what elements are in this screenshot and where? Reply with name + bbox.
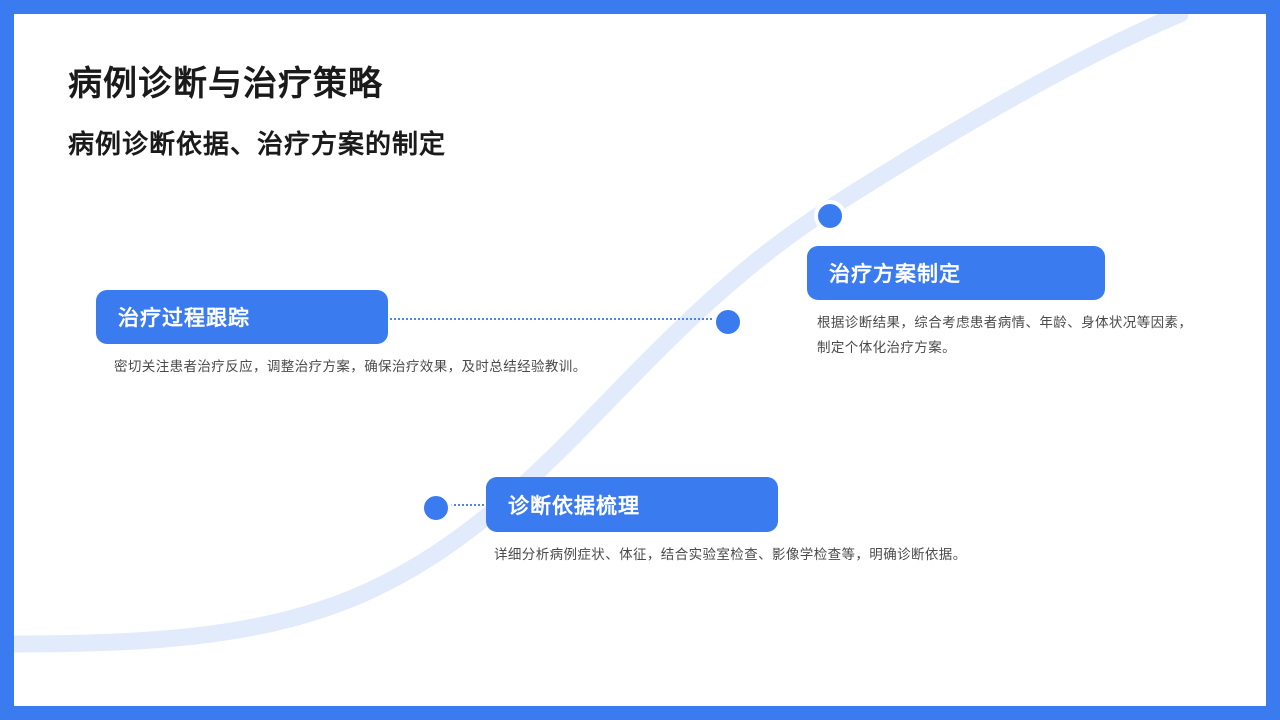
page-title: 病例诊断与治疗策略 — [68, 56, 383, 105]
node-treatment-plan-card[interactable]: 治疗方案制定 — [807, 246, 1105, 300]
node-treatment-plan[interactable]: 治疗方案制定 根据诊断结果，综合考虑患者病情、年龄、身体状况等因素，制定个体化治… — [807, 246, 1199, 361]
node-treatment-tracking[interactable]: 治疗过程跟踪 密切关注患者治疗反应，调整治疗方案，确保治疗效果，及时总结经验教训… — [96, 290, 634, 380]
marker-dot-diagnosis-basis[interactable] — [420, 492, 452, 524]
node-diagnosis-basis[interactable]: 诊断依据梳理 详细分析病例症状、体征，结合实验室检查、影像学检查等，明确诊断依据… — [486, 477, 1064, 568]
node-treatment-tracking-label: 治疗过程跟踪 — [118, 302, 250, 332]
connector-diagnosis-basis — [446, 504, 488, 506]
node-treatment-tracking-description: 密切关注患者治疗反应，调整治疗方案，确保治疗效果，及时总结经验教训。 — [96, 355, 634, 380]
node-diagnosis-basis-label: 诊断依据梳理 — [508, 490, 640, 520]
node-treatment-plan-label: 治疗方案制定 — [829, 258, 961, 288]
page-subtitle: 病例诊断依据、治疗方案的制定 — [68, 124, 446, 161]
node-treatment-plan-description: 根据诊断结果，综合考虑患者病情、年龄、身体状况等因素，制定个体化治疗方案。 — [807, 311, 1199, 361]
node-diagnosis-basis-card[interactable]: 诊断依据梳理 — [486, 477, 778, 532]
slide-canvas: 病例诊断与治疗策略 病例诊断依据、治疗方案的制定 治疗方案制定 根据诊断结果，综… — [0, 0, 1280, 720]
marker-dot-treatment-tracking[interactable] — [712, 306, 744, 338]
node-diagnosis-basis-description: 详细分析病例症状、体征，结合实验室检查、影像学检查等，明确诊断依据。 — [486, 543, 1064, 568]
node-treatment-tracking-card[interactable]: 治疗过程跟踪 — [96, 290, 388, 344]
marker-dot-treatment-plan[interactable] — [814, 200, 846, 232]
